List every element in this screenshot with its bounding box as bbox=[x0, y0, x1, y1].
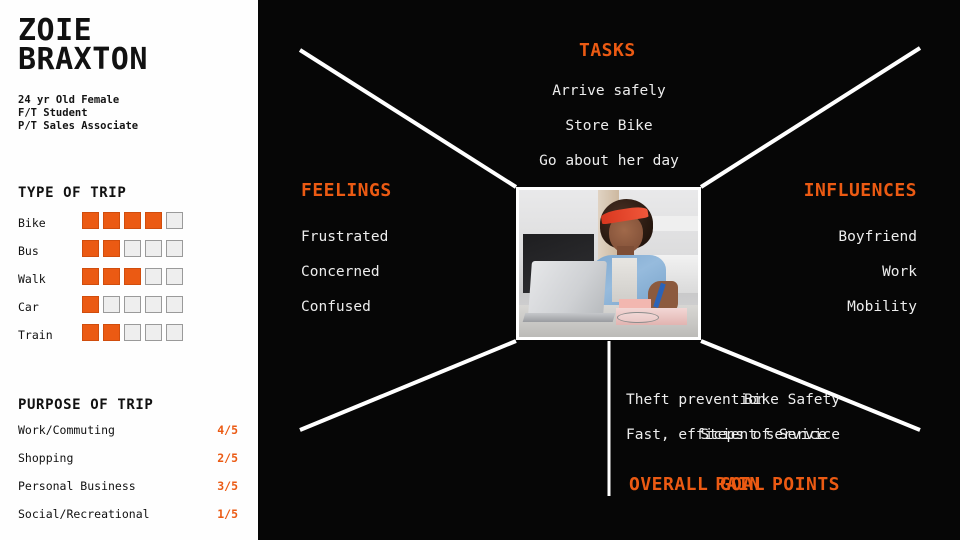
quadrant-item: Frustrated bbox=[301, 220, 388, 255]
persona-last-name: BRAXTON bbox=[18, 45, 148, 74]
rating-box-empty[interactable] bbox=[145, 268, 162, 285]
persona-first-name: ZOIE bbox=[18, 16, 148, 45]
trip-type-rating[interactable] bbox=[82, 240, 183, 257]
type-of-trip-list: BikeBusWalkCarTrain bbox=[18, 212, 248, 352]
quadrant-item: Boyfriend bbox=[838, 220, 917, 255]
tasks-list: Arrive safelyStore BikeGo about her day bbox=[258, 74, 960, 179]
trip-type-label: Car bbox=[18, 300, 39, 314]
purpose-label: Personal Business bbox=[18, 479, 136, 493]
persona-meta-occupation-1: F/T Student bbox=[18, 107, 138, 120]
rating-box-empty[interactable] bbox=[145, 240, 162, 257]
rating-box-empty[interactable] bbox=[103, 296, 120, 313]
trip-type-rating[interactable] bbox=[82, 296, 183, 313]
trip-type-row: Car bbox=[18, 296, 248, 324]
purpose-row: Social/Recreational1/5 bbox=[18, 507, 238, 535]
photo-shirt-inner bbox=[612, 258, 637, 302]
purpose-score: 3/5 bbox=[217, 479, 238, 493]
persona-slide: ZOIE BRAXTON 24 yr Old Female F/T Studen… bbox=[0, 0, 960, 540]
persona-photo-image bbox=[519, 190, 698, 337]
persona-name: ZOIE BRAXTON bbox=[18, 16, 148, 74]
rating-box-filled[interactable] bbox=[82, 240, 99, 257]
feelings-list: FrustratedConcernedConfused bbox=[301, 220, 388, 325]
trip-type-label: Bike bbox=[18, 216, 46, 230]
persona-meta: 24 yr Old Female F/T Student P/T Sales A… bbox=[18, 94, 138, 133]
purpose-of-trip-heading: PURPOSE OF TRIP bbox=[18, 397, 153, 413]
rating-box-filled[interactable] bbox=[124, 212, 141, 229]
quadrant-item: Theft prevention bbox=[626, 383, 827, 418]
influences-title: INFLUENCES bbox=[804, 180, 917, 201]
trip-type-row: Walk bbox=[18, 268, 248, 296]
rating-box-empty[interactable] bbox=[166, 212, 183, 229]
rating-box-empty[interactable] bbox=[145, 296, 162, 313]
quadrant-item: Fast, efficient service bbox=[626, 418, 827, 453]
quadrant-item: Work bbox=[838, 255, 917, 290]
trip-type-row: Bus bbox=[18, 240, 248, 268]
persona-photo bbox=[516, 187, 701, 340]
trip-type-rating[interactable] bbox=[82, 212, 183, 229]
trip-type-row: Train bbox=[18, 324, 248, 352]
rating-box-filled[interactable] bbox=[103, 212, 120, 229]
rating-box-filled[interactable] bbox=[103, 324, 120, 341]
purpose-of-trip-list: Work/Commuting4/5Shopping2/5Personal Bus… bbox=[18, 423, 238, 535]
purpose-score: 4/5 bbox=[217, 423, 238, 437]
feelings-title: FEELINGS bbox=[301, 180, 392, 201]
quadrant-item: Concerned bbox=[301, 255, 388, 290]
photo-glasses bbox=[617, 312, 658, 323]
influences-list: BoyfriendWorkMobility bbox=[838, 220, 917, 325]
tasks-title: TASKS bbox=[579, 40, 636, 61]
persona-meta-occupation-2: P/T Sales Associate bbox=[18, 120, 138, 133]
rating-box-filled[interactable] bbox=[103, 268, 120, 285]
rating-box-empty[interactable] bbox=[166, 240, 183, 257]
rating-box-empty[interactable] bbox=[124, 240, 141, 257]
quadrant-item: Arrive safely bbox=[258, 74, 960, 109]
trip-type-rating[interactable] bbox=[82, 268, 183, 285]
type-of-trip-heading: TYPE OF TRIP bbox=[18, 185, 126, 201]
trip-type-label: Bus bbox=[18, 244, 39, 258]
rating-box-empty[interactable] bbox=[124, 296, 141, 313]
quadrant-item: Store Bike bbox=[258, 109, 960, 144]
rating-box-filled[interactable] bbox=[82, 296, 99, 313]
rating-box-filled[interactable] bbox=[124, 268, 141, 285]
rating-box-filled[interactable] bbox=[103, 240, 120, 257]
persona-sidebar: ZOIE BRAXTON 24 yr Old Female F/T Studen… bbox=[0, 0, 258, 540]
trip-type-row: Bike bbox=[18, 212, 248, 240]
quadrant-item: Go about her day bbox=[258, 144, 960, 179]
purpose-label: Work/Commuting bbox=[18, 423, 115, 437]
trip-type-rating[interactable] bbox=[82, 324, 183, 341]
purpose-row: Personal Business3/5 bbox=[18, 479, 238, 507]
rating-box-filled[interactable] bbox=[82, 212, 99, 229]
photo-laptop-screen bbox=[528, 261, 607, 317]
overall-goal-title: OVERALL GOAL bbox=[629, 474, 765, 495]
rating-box-filled[interactable] bbox=[82, 324, 99, 341]
rating-box-empty[interactable] bbox=[166, 268, 183, 285]
overall-goal-list: Theft preventionFast, efficient service bbox=[626, 383, 827, 453]
rating-box-empty[interactable] bbox=[166, 324, 183, 341]
persona-meta-age: 24 yr Old Female bbox=[18, 94, 138, 107]
purpose-score: 1/5 bbox=[217, 507, 238, 521]
trip-type-label: Train bbox=[18, 328, 53, 342]
rating-box-empty[interactable] bbox=[124, 324, 141, 341]
quadrant-item: Mobility bbox=[838, 290, 917, 325]
photo-laptop-base bbox=[523, 313, 615, 322]
purpose-row: Shopping2/5 bbox=[18, 451, 238, 479]
rating-box-filled[interactable] bbox=[145, 212, 162, 229]
purpose-label: Shopping bbox=[18, 451, 73, 465]
trip-type-label: Walk bbox=[18, 272, 46, 286]
purpose-row: Work/Commuting4/5 bbox=[18, 423, 238, 451]
purpose-score: 2/5 bbox=[217, 451, 238, 465]
rating-box-filled[interactable] bbox=[82, 268, 99, 285]
purpose-label: Social/Recreational bbox=[18, 507, 150, 521]
rating-box-empty[interactable] bbox=[166, 296, 183, 313]
quadrant-item: Confused bbox=[301, 290, 388, 325]
rating-box-empty[interactable] bbox=[145, 324, 162, 341]
